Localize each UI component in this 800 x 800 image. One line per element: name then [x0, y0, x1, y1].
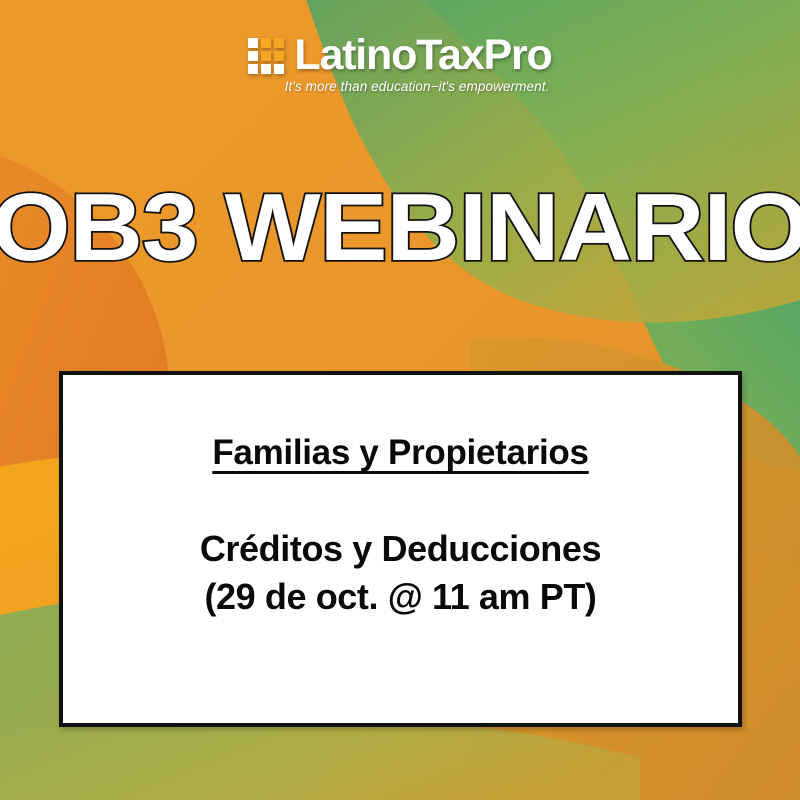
brand-tagline: It's more than education−it's empowermen… — [285, 79, 550, 94]
page-title: OB3 WEBINARIO — [0, 178, 800, 278]
webinar-topic: Créditos y Deducciones — [63, 525, 738, 573]
grid-3x3-icon — [248, 38, 284, 74]
bg-blob-olive-bottom — [0, 716, 640, 800]
brand-name: LatinoTaxPro — [294, 34, 551, 77]
webinar-details-content: Familias y Propietarios Créditos y Deduc… — [63, 433, 738, 621]
webinar-audience-heading: Familias y Propietarios — [63, 433, 738, 473]
brand-logo-row: LatinoTaxPro — [248, 34, 551, 77]
webinar-poster: LatinoTaxPro It's more than education−it… — [0, 0, 800, 800]
webinar-details-card: Familias y Propietarios Créditos y Deduc… — [59, 371, 742, 727]
webinar-datetime: (29 de oct. @ 11 am PT) — [63, 573, 738, 621]
webinar-topic-block: Créditos y Deducciones (29 de oct. @ 11 … — [63, 525, 738, 621]
brand-logo: LatinoTaxPro It's more than education−it… — [0, 34, 800, 94]
